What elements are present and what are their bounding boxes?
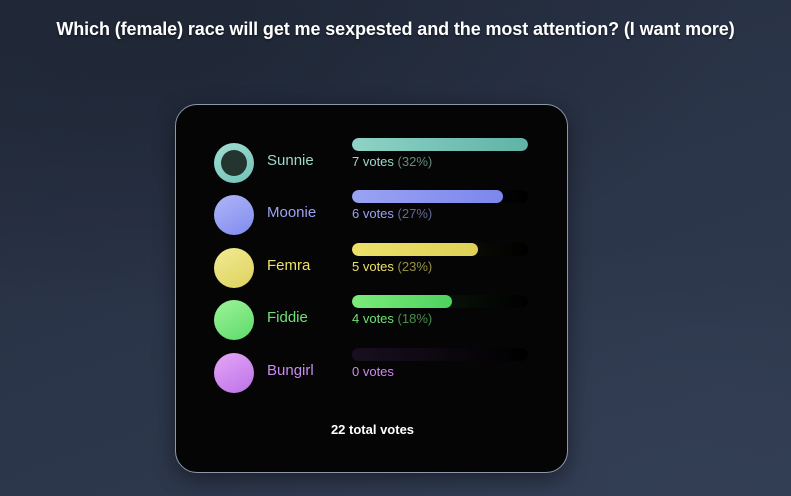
vote-count: 4 votes	[352, 311, 394, 326]
total-votes-label: 22 total votes	[176, 421, 568, 439]
option-label: Moonie	[267, 203, 316, 223]
vote-bar-fill	[352, 190, 503, 203]
vote-bar-fill	[352, 295, 452, 308]
option-label: Femra	[267, 256, 310, 276]
vote-count-line: 4 votes (18%)	[352, 310, 528, 328]
option-bar-area: 7 votes (32%)	[352, 138, 528, 171]
poll-option-row[interactable]: Sunnie 7 votes (32%)	[214, 138, 534, 190]
avatar	[214, 353, 254, 393]
vote-count-line: 0 votes	[352, 363, 528, 381]
vote-percent: (23%)	[398, 259, 433, 274]
vote-count: 6 votes	[352, 206, 394, 221]
vote-percent: (32%)	[398, 154, 433, 169]
vote-count: 7 votes	[352, 154, 394, 169]
vote-count-line: 6 votes (27%)	[352, 205, 528, 223]
poll-option-row[interactable]: Fiddie 4 votes (18%)	[214, 295, 534, 347]
vote-bar-fill	[352, 243, 478, 256]
poll-option-row[interactable]: Femra 5 votes (23%)	[214, 243, 534, 295]
vote-bar-track	[352, 243, 528, 256]
vote-bar-track	[352, 348, 528, 361]
vote-percent: (27%)	[398, 206, 433, 221]
vote-count: 0 votes	[352, 364, 394, 379]
option-bar-area: 5 votes (23%)	[352, 243, 528, 276]
page-title: Which (female) race will get me sexpeste…	[50, 17, 741, 41]
vote-count-line: 7 votes (32%)	[352, 153, 528, 171]
vote-bar-track	[352, 138, 528, 151]
option-bar-area: 4 votes (18%)	[352, 295, 528, 328]
option-label: Bungirl	[267, 361, 314, 381]
poll-page: Which (female) race will get me sexpeste…	[0, 0, 791, 496]
option-label: Sunnie	[267, 151, 314, 171]
vote-count: 5 votes	[352, 259, 394, 274]
avatar	[214, 300, 254, 340]
poll-card: Sunnie 7 votes (32%) Moonie	[175, 104, 568, 473]
option-label: Fiddie	[267, 308, 308, 328]
poll-option-row[interactable]: Bungirl 0 votes	[214, 348, 534, 400]
vote-bar-track	[352, 295, 528, 308]
vote-bar-fill	[352, 138, 528, 151]
vote-count-line: 5 votes (23%)	[352, 258, 528, 276]
option-bar-area: 6 votes (27%)	[352, 190, 528, 223]
vote-percent: (18%)	[398, 311, 433, 326]
avatar	[214, 195, 254, 235]
avatar	[214, 248, 254, 288]
vote-bar-track	[352, 190, 528, 203]
avatar	[214, 143, 254, 183]
poll-option-row[interactable]: Moonie 6 votes (27%)	[214, 190, 534, 242]
option-bar-area: 0 votes	[352, 348, 528, 381]
